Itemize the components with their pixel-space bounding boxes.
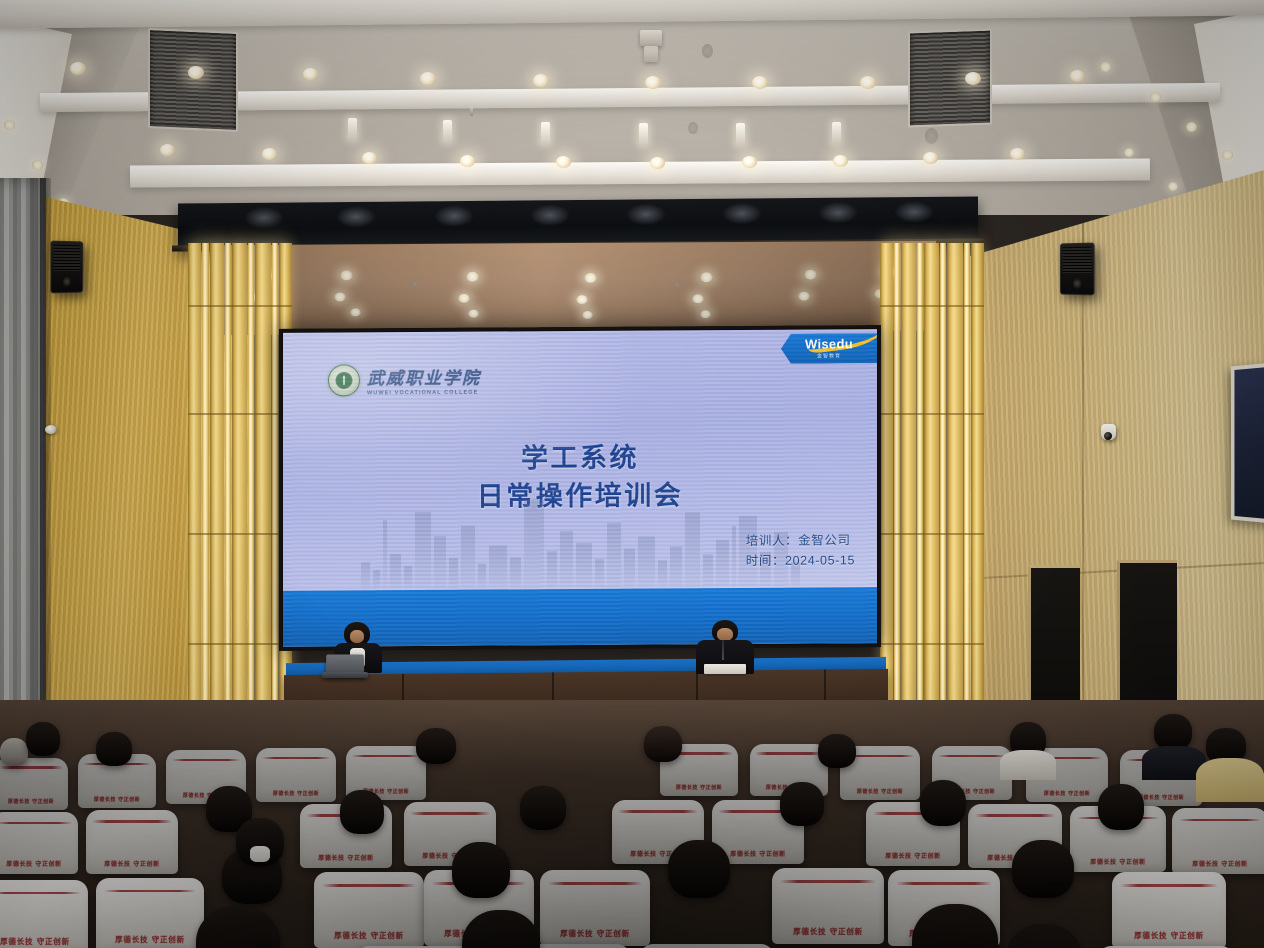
- stage-soffit: [222, 241, 936, 335]
- floor-shading: [0, 700, 1264, 948]
- ceiling-downlight: [362, 152, 377, 164]
- pendant-light: [443, 120, 452, 142]
- ceiling-spot: [1168, 182, 1178, 191]
- soffit-marker: [412, 280, 418, 288]
- hvac-vent-left: [148, 28, 238, 132]
- soffit-downlight: [692, 294, 704, 303]
- wall-seam-horizontal: [964, 562, 1264, 580]
- ceiling-downlight: [420, 72, 436, 85]
- soffit-downlight: [804, 270, 817, 280]
- ceiling-spot: [1124, 148, 1134, 157]
- college-logo: 武威职业学院 WUWEI VOCATIONAL COLLEGE: [328, 364, 481, 397]
- led-screen[interactable]: 武威职业学院 WUWEI VOCATIONAL COLLEGE Wisedu 金…: [283, 329, 877, 647]
- wisedu-vendor-badge: Wisedu 金智教育: [781, 333, 877, 364]
- soffit-downlight: [350, 308, 361, 316]
- ceiling-downlight: [70, 62, 86, 75]
- ceiling-spot: [1186, 122, 1197, 132]
- valance-reflection: [626, 203, 666, 225]
- speaker-grille: [54, 245, 80, 271]
- ceiling-downlight: [923, 152, 938, 164]
- ceiling-downlight: [1010, 148, 1025, 160]
- wall-fixture-left: [45, 425, 57, 434]
- slide-meta: 培训人：金智公司 时间：2024-05-15: [746, 530, 855, 572]
- camera-lens-icon: [1104, 432, 1112, 440]
- college-name-cn: 武威职业学院: [367, 364, 481, 390]
- auditorium-scene: 武威职业学院 WUWEI VOCATIONAL COLLEGE Wisedu 金…: [0, 0, 1264, 948]
- speaker-grille: [1063, 247, 1091, 273]
- ceiling-downlight: [742, 156, 757, 168]
- soffit-downlight: [468, 310, 479, 318]
- college-name-en: WUWEI VOCATIONAL COLLEGE: [367, 390, 481, 397]
- speaker-cone: [63, 276, 71, 287]
- valance-reflection: [244, 207, 284, 229]
- date-label: 时间：2024-05-15: [746, 551, 855, 572]
- soffit-downlight: [458, 294, 470, 303]
- ceiling-sensor-2: [688, 122, 698, 134]
- presenter-face: [350, 630, 364, 643]
- pendant-light: [639, 123, 648, 145]
- ceiling-downlight: [645, 76, 661, 89]
- pendant-light: [736, 123, 745, 145]
- ceiling-downlight: [965, 72, 981, 85]
- wisedu-brand-name: Wisedu: [805, 337, 853, 350]
- wisedu-brand-sub: 金智教育: [817, 352, 841, 359]
- ceiling-downlight: [860, 76, 876, 89]
- ceiling-downlight: [752, 76, 768, 89]
- ceiling-spot: [1150, 92, 1161, 102]
- ceiling-spot: [1100, 62, 1111, 72]
- valance-reflection: [894, 201, 934, 223]
- pendant-light: [832, 122, 841, 144]
- ceiling-sensor-3: [925, 128, 938, 144]
- soffit-downlight: [582, 311, 593, 319]
- pendant-light: [541, 122, 550, 144]
- valance-reflection: [818, 202, 858, 224]
- valance-reflection: [336, 206, 376, 228]
- presentation-slide: 武威职业学院 WUWEI VOCATIONAL COLLEGE Wisedu 金…: [283, 329, 877, 647]
- ceiling-beam-top: [0, 0, 1264, 29]
- pendant-rod: [470, 106, 473, 116]
- pillar-group-right: [880, 243, 984, 713]
- valance-reflection: [530, 204, 570, 226]
- ceiling-downlight: [833, 155, 848, 167]
- soffit-downlight: [584, 273, 597, 283]
- curtain-edge-shadow: [40, 178, 51, 778]
- valance-reflection: [722, 202, 762, 224]
- soffit-downlight: [466, 272, 479, 282]
- ceiling-downlight: [556, 156, 571, 168]
- pendant-light: [348, 118, 357, 140]
- soffit-downlight: [340, 270, 353, 280]
- ceiling-spot: [32, 160, 43, 170]
- ceiling-downlight: [188, 66, 204, 79]
- ceiling-downlight: [1070, 70, 1085, 82]
- soffit-marker: [674, 280, 680, 288]
- ceiling-downlight: [650, 157, 665, 169]
- ceiling-downlight: [262, 148, 277, 160]
- ceiling-spot: [4, 120, 15, 130]
- documents[interactable]: [704, 664, 746, 674]
- soffit-downlight: [700, 310, 711, 318]
- ceiling-sensor: [702, 44, 713, 58]
- ceiling-downlight: [533, 74, 549, 87]
- ceiling-fixture-body: [644, 46, 658, 62]
- led-screen-frame: 武威职业学院 WUWEI VOCATIONAL COLLEGE Wisedu 金…: [279, 325, 881, 651]
- speaker-cone: [1073, 278, 1081, 289]
- soffit-downlight: [798, 292, 810, 301]
- soffit-downlight: [700, 272, 713, 282]
- loudspeaker-right: [1060, 243, 1095, 296]
- loudspeaker-left: [50, 241, 83, 294]
- soffit-downlight: [576, 295, 588, 304]
- valance-reflection: [434, 205, 474, 227]
- trainer-label: 培训人：金智公司: [746, 530, 855, 551]
- pillar-group-left: [188, 243, 292, 713]
- wall-display-panel: [1231, 361, 1264, 524]
- ceiling: [0, 0, 1264, 215]
- laptop-base[interactable]: [322, 672, 368, 678]
- ceiling-downlight: [460, 155, 475, 167]
- ceiling-spot: [1222, 150, 1233, 160]
- ceiling-downlight: [160, 144, 175, 156]
- soffit-downlight: [334, 292, 346, 301]
- ceiling-fixture: [640, 30, 662, 46]
- college-emblem-icon: [328, 364, 360, 396]
- ceiling-beam-lower: [130, 158, 1150, 187]
- microphone-stand: [722, 640, 724, 660]
- ceiling-downlight: [303, 68, 318, 80]
- audience-seating: 厚德长技 守正创新 厚德长技 守正创新 厚德长技 守正创新 厚德长技 守正创新 …: [0, 700, 1264, 948]
